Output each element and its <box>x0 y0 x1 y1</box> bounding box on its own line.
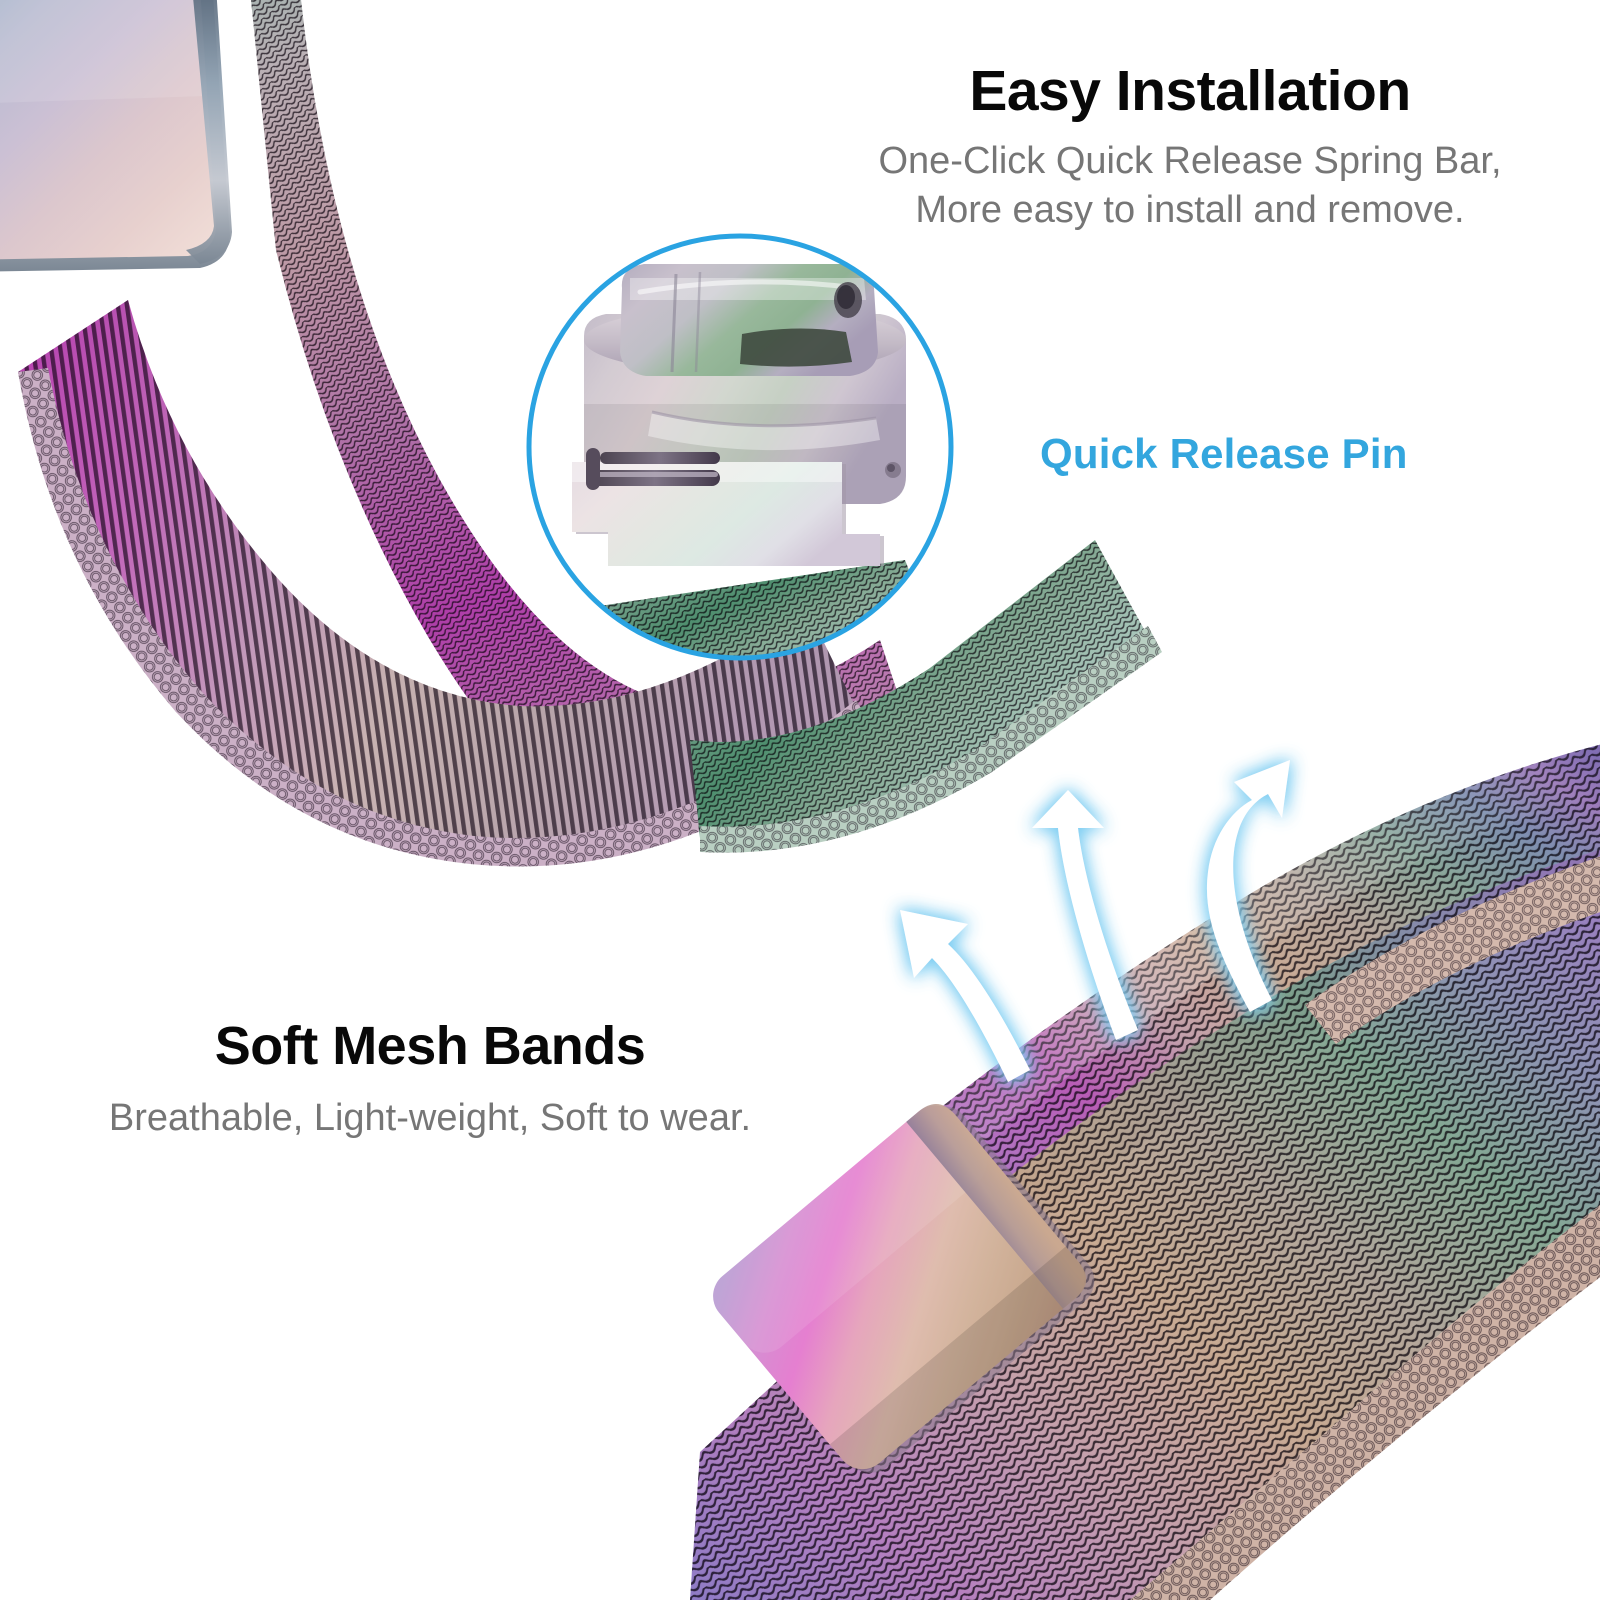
infographic-canvas: Easy Installation One-Click Quick Releas… <box>0 0 1600 1600</box>
feature-block-installation: Easy Installation One-Click Quick Releas… <box>820 62 1560 235</box>
feature-block-mesh: Soft Mesh Bands Breathable, Light-weight… <box>35 1018 825 1143</box>
installation-title: Easy Installation <box>820 62 1560 121</box>
installation-subtitle-line-2: More easy to install and remove. <box>915 189 1464 231</box>
mesh-subtitle: Breathable, Light-weight, Soft to wear. <box>35 1094 825 1143</box>
text-layer: Easy Installation One-Click Quick Releas… <box>0 0 1600 1600</box>
installation-subtitle-line-1: One-Click Quick Release Spring Bar, <box>878 140 1501 182</box>
quick-release-pin-label: Quick Release Pin <box>1040 430 1408 478</box>
mesh-title: Soft Mesh Bands <box>35 1018 825 1074</box>
installation-subtitle: One-Click Quick Release Spring Bar, More… <box>820 137 1560 234</box>
